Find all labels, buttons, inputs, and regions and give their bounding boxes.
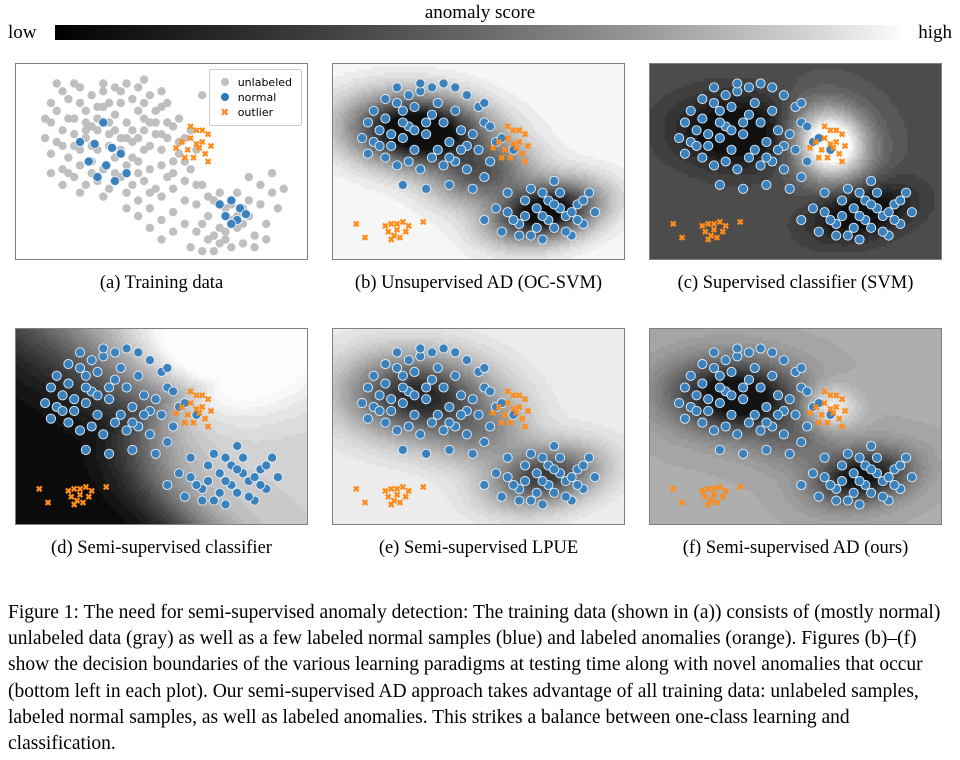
data-point — [901, 453, 910, 462]
data-point — [93, 173, 102, 182]
data-point — [837, 196, 846, 205]
data-point — [169, 122, 177, 130]
data-point — [433, 363, 442, 372]
data-point — [675, 134, 684, 143]
data-point — [843, 496, 852, 505]
data-point — [122, 189, 130, 197]
data-point — [110, 418, 119, 427]
data-point — [704, 130, 713, 139]
data-point — [439, 383, 448, 392]
data-point — [491, 204, 500, 213]
panel-b-plot — [333, 64, 624, 259]
data-point — [175, 150, 183, 158]
data-point — [221, 212, 230, 221]
data-point — [122, 169, 131, 178]
colorbar: anomaly score low high — [0, 0, 960, 50]
data-point — [768, 348, 777, 357]
data-point — [262, 235, 270, 243]
data-point — [756, 118, 765, 127]
data-point — [480, 173, 489, 182]
data-point — [715, 445, 724, 454]
data-point — [146, 91, 154, 99]
data-point — [843, 231, 852, 240]
data-point — [878, 492, 887, 501]
data-point — [520, 477, 529, 486]
data-point — [855, 500, 864, 509]
data-point — [849, 223, 858, 232]
decision-field-semisup — [16, 329, 307, 524]
data-point — [715, 134, 724, 143]
data-point — [526, 184, 535, 193]
data-point — [837, 477, 846, 486]
data-point — [93, 391, 102, 400]
data-point — [58, 391, 67, 400]
data-point — [105, 449, 114, 458]
data-point — [739, 449, 748, 458]
data-point — [445, 445, 454, 454]
data-point — [70, 114, 78, 122]
data-point — [680, 118, 689, 127]
data-point — [849, 204, 858, 213]
data-point — [75, 363, 84, 372]
data-point — [526, 449, 535, 458]
data-point — [128, 445, 137, 454]
data-point — [216, 189, 224, 197]
data-point — [427, 110, 436, 119]
data-point — [456, 410, 465, 419]
data-point — [128, 418, 137, 427]
legend-label-outlier: outlier — [238, 105, 273, 120]
data-point — [64, 360, 73, 369]
data-point — [733, 165, 742, 174]
data-point — [797, 98, 806, 107]
data-point — [579, 461, 588, 470]
data-point — [727, 145, 736, 154]
data-point — [192, 181, 200, 189]
data-point — [779, 430, 788, 439]
data-point — [58, 406, 67, 415]
data-point — [803, 122, 812, 131]
data-point — [105, 99, 113, 107]
data-point — [99, 344, 108, 353]
data-point — [381, 153, 390, 162]
data-point — [520, 461, 529, 470]
data-point — [375, 406, 384, 415]
data-point — [375, 141, 384, 150]
data-point — [456, 391, 465, 400]
data-point — [99, 192, 107, 200]
data-point — [233, 441, 242, 450]
decision-field-lpue — [333, 329, 624, 524]
data-point — [381, 418, 390, 427]
data-point — [93, 410, 102, 419]
data-point — [256, 200, 264, 208]
data-point — [64, 153, 72, 161]
data-point — [163, 363, 172, 372]
data-point — [901, 188, 910, 197]
data-point — [675, 399, 684, 408]
data-point — [686, 371, 695, 380]
data-point — [480, 438, 489, 447]
data-point — [791, 145, 800, 154]
data-point — [134, 371, 143, 380]
data-point — [375, 126, 384, 135]
data-point — [715, 383, 724, 392]
data-point — [151, 118, 159, 126]
data-point — [462, 356, 471, 365]
data-point — [462, 91, 471, 100]
data-point — [116, 363, 125, 372]
data-point — [768, 83, 777, 92]
data-point — [375, 391, 384, 400]
data-point — [509, 215, 518, 224]
data-point — [280, 185, 288, 193]
data-point — [739, 118, 748, 127]
data-point — [416, 344, 425, 353]
data-point — [140, 99, 148, 107]
data-point — [398, 445, 407, 454]
data-point — [157, 192, 165, 200]
data-point — [550, 176, 559, 185]
data-point — [503, 188, 512, 197]
data-point — [392, 363, 401, 372]
data-point — [468, 130, 477, 139]
data-point — [215, 488, 224, 497]
circle-icon — [217, 92, 233, 103]
data-point — [584, 188, 593, 197]
data-point — [433, 98, 442, 107]
data-point — [744, 110, 753, 119]
data-point — [82, 126, 90, 134]
data-point — [416, 430, 425, 439]
data-point — [186, 453, 195, 462]
data-point — [715, 106, 724, 115]
data-point — [422, 118, 431, 127]
legend-label-normal: normal — [238, 90, 277, 105]
data-point — [884, 208, 893, 217]
data-point — [122, 204, 130, 212]
data-point — [81, 371, 90, 380]
data-point — [849, 469, 858, 478]
data-point — [456, 145, 465, 154]
data-point — [785, 130, 794, 139]
data-point — [128, 402, 137, 411]
data-point — [422, 130, 431, 139]
data-point — [590, 473, 599, 482]
data-point — [721, 91, 730, 100]
data-point — [157, 216, 165, 224]
data-point — [221, 477, 230, 486]
data-point — [867, 465, 876, 474]
data-point — [704, 395, 713, 404]
data-point — [99, 430, 108, 439]
data-point — [584, 453, 593, 462]
data-point — [244, 492, 253, 501]
data-point — [41, 134, 49, 142]
data-point — [84, 157, 93, 166]
data-point — [111, 111, 119, 119]
data-point — [410, 391, 419, 400]
data-point — [81, 383, 90, 392]
data-point — [146, 189, 154, 197]
data-point — [363, 149, 372, 158]
data-point — [427, 83, 436, 92]
panel-a-training-data: unlabeled normal ✖ outlier — [15, 63, 308, 260]
data-point — [768, 371, 777, 380]
data-point — [468, 449, 477, 458]
data-point — [404, 91, 413, 100]
data-point — [122, 383, 131, 392]
data-point — [93, 126, 101, 134]
data-point — [392, 161, 401, 170]
data-point — [709, 426, 718, 435]
data-point — [273, 473, 282, 482]
data-point — [579, 196, 588, 205]
data-point — [843, 449, 852, 458]
data-point — [837, 461, 846, 470]
data-point — [392, 98, 401, 107]
data-point — [686, 106, 695, 115]
data-point — [721, 422, 730, 431]
data-point — [157, 410, 166, 419]
data-point — [134, 196, 142, 204]
data-point — [422, 449, 431, 458]
data-point — [773, 126, 782, 135]
data-point — [146, 224, 154, 232]
data-point — [58, 87, 66, 95]
data-point — [369, 371, 378, 380]
decision-field-ocsvm — [333, 64, 624, 259]
data-point — [268, 169, 276, 177]
legend-label-unlabeled: unlabeled — [238, 75, 292, 90]
data-point — [145, 356, 154, 365]
data-point — [250, 473, 259, 482]
data-point — [410, 410, 419, 419]
data-point — [855, 477, 864, 486]
colorbar-low-label: low — [8, 23, 37, 42]
data-point — [175, 114, 183, 122]
panel-f-semisupervised-ad-ours — [649, 328, 942, 525]
data-point — [715, 399, 724, 408]
data-point — [163, 99, 171, 107]
data-point — [250, 243, 258, 251]
figure-caption: Figure 1: The need for semi-supervised a… — [8, 600, 952, 757]
data-point — [491, 469, 500, 478]
data-point — [803, 157, 812, 166]
data-point — [174, 469, 183, 478]
data-point — [797, 438, 806, 447]
decision-field-svm — [650, 64, 941, 259]
data-point — [75, 426, 84, 435]
data-point — [198, 220, 206, 228]
data-point — [250, 231, 258, 239]
data-point — [134, 169, 142, 177]
data-point — [181, 177, 189, 185]
data-point — [744, 375, 753, 384]
data-point — [480, 480, 489, 489]
data-point — [733, 344, 742, 353]
data-point — [410, 145, 419, 154]
data-point — [445, 137, 454, 146]
data-point — [363, 383, 372, 392]
data-point — [140, 177, 148, 185]
data-point — [398, 106, 407, 115]
data-point — [480, 363, 489, 372]
data-point — [474, 145, 483, 154]
data-point — [538, 235, 547, 244]
data-point — [727, 410, 736, 419]
data-point — [727, 367, 736, 376]
data-point — [907, 208, 916, 217]
data-point — [82, 181, 90, 189]
data-point — [867, 441, 876, 450]
data-point — [422, 395, 431, 404]
data-point — [209, 496, 218, 505]
data-point — [762, 180, 771, 189]
data-point — [169, 228, 177, 236]
data-point — [709, 83, 718, 92]
panel-c-supervised-classifier — [649, 63, 942, 260]
data-point — [117, 99, 125, 107]
data-point — [433, 145, 442, 154]
data-point — [698, 153, 707, 162]
data-point — [744, 153, 753, 162]
data-point — [70, 395, 79, 404]
data-point — [727, 391, 736, 400]
data-point — [550, 488, 559, 497]
data-point — [456, 126, 465, 135]
data-point — [398, 134, 407, 143]
data-point — [872, 453, 881, 462]
data-point — [692, 406, 701, 415]
data-point — [550, 223, 559, 232]
data-point — [387, 130, 396, 139]
data-point — [550, 441, 559, 450]
data-point — [392, 426, 401, 435]
data-point — [46, 383, 55, 392]
data-point — [267, 453, 276, 462]
data-point — [832, 231, 841, 240]
data-point — [750, 98, 759, 107]
data-point — [221, 453, 230, 462]
data-point — [451, 106, 460, 115]
data-point — [538, 500, 547, 509]
data-point — [733, 430, 742, 439]
data-point — [773, 410, 782, 419]
data-point — [756, 344, 765, 353]
data-point — [439, 79, 448, 88]
data-point — [107, 143, 116, 152]
data-point — [46, 414, 55, 423]
data-point — [715, 371, 724, 380]
data-point — [439, 344, 448, 353]
data-point — [820, 473, 829, 482]
legend: unlabeled normal ✖ outlier — [209, 69, 302, 126]
data-point — [779, 356, 788, 365]
data-point — [692, 126, 701, 135]
data-point — [262, 461, 271, 470]
data-point — [262, 220, 270, 228]
data-point — [692, 141, 701, 150]
panel-e-plot — [333, 329, 624, 524]
data-point — [204, 235, 212, 243]
data-point — [416, 79, 425, 88]
data-point — [140, 146, 148, 154]
data-point — [233, 488, 242, 497]
decision-field-ours — [650, 329, 941, 524]
data-point — [538, 477, 547, 486]
data-point — [567, 208, 576, 217]
data-point — [105, 383, 114, 392]
data-point — [416, 165, 425, 174]
data-point — [756, 161, 765, 170]
data-point — [433, 410, 442, 419]
data-point — [820, 453, 829, 462]
data-point — [878, 227, 887, 236]
data-point — [526, 496, 535, 505]
data-point — [843, 184, 852, 193]
data-point — [203, 477, 212, 486]
data-point — [81, 445, 90, 454]
data-point — [779, 91, 788, 100]
data-point — [58, 181, 66, 189]
data-point — [245, 173, 253, 181]
data-point — [146, 204, 154, 212]
data-point — [140, 126, 148, 134]
data-point — [896, 461, 905, 470]
legend-item-outlier: ✖ outlier — [217, 105, 292, 120]
data-point — [198, 91, 206, 99]
data-point — [87, 91, 95, 99]
panel-d-semisupervised-classifier — [15, 328, 308, 525]
data-point — [445, 418, 454, 427]
panel-d-plot — [16, 329, 307, 524]
data-point — [180, 492, 189, 501]
data-point — [826, 480, 835, 489]
data-point — [739, 395, 748, 404]
data-point — [497, 492, 506, 501]
data-point — [186, 473, 195, 482]
data-point — [75, 348, 84, 357]
data-point — [82, 107, 90, 115]
data-point — [509, 480, 518, 489]
data-point — [146, 165, 154, 173]
data-point — [76, 99, 84, 107]
data-point — [99, 87, 107, 95]
data-point — [256, 480, 265, 489]
data-point — [64, 418, 73, 427]
subcaption-a: (a) Training data — [15, 272, 308, 294]
data-point — [837, 212, 846, 221]
data-point — [87, 422, 96, 431]
data-point — [791, 410, 800, 419]
data-point — [221, 228, 229, 236]
data-point — [381, 360, 390, 369]
data-point — [58, 126, 66, 134]
data-point — [532, 469, 541, 478]
data-point — [381, 379, 390, 388]
data-point — [855, 453, 864, 462]
data-point — [762, 137, 771, 146]
data-point — [907, 473, 916, 482]
data-point — [832, 496, 841, 505]
data-point — [363, 414, 372, 423]
data-point — [82, 118, 90, 126]
data-point — [404, 356, 413, 365]
data-point — [427, 375, 436, 384]
data-point — [239, 239, 247, 247]
subcaption-c: (c) Supervised classifier (SVM) — [649, 272, 942, 294]
